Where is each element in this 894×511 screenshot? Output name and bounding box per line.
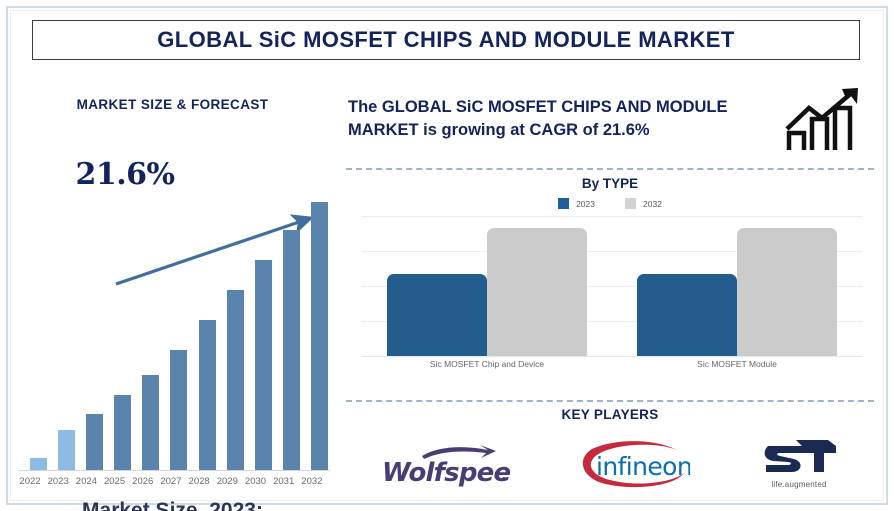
bar-2027 xyxy=(170,350,187,470)
bar-column xyxy=(193,170,221,470)
legend-item: 2023 xyxy=(558,198,595,209)
year-label: 2032 xyxy=(298,476,326,487)
st-tagline: life.augmented xyxy=(771,480,826,489)
legend-item: 2032 xyxy=(625,198,662,209)
svg-text:infineon: infineon xyxy=(596,452,690,481)
bar-2028 xyxy=(199,320,216,470)
bar-column xyxy=(52,170,80,470)
bar-2024 xyxy=(86,414,103,470)
market-size-heading: MARKET SIZE & FORECAST xyxy=(10,97,335,112)
type-category-labels: Sic MOSFET Chip and Device Sic MOSFET Mo… xyxy=(362,359,862,369)
by-type-title: By TYPE xyxy=(346,176,874,191)
market-size-bar-chart xyxy=(18,165,333,470)
type-bar-2032 xyxy=(487,228,587,356)
svg-text:Wolfspeed: Wolfspeed xyxy=(382,458,510,487)
legend-label: 2023 xyxy=(576,199,595,209)
bar-2023 xyxy=(58,430,75,470)
year-label: 2025 xyxy=(101,476,129,487)
market-size-panel: MARKET SIZE & FORECAST 21.6% xyxy=(10,80,335,495)
type-group-module xyxy=(612,216,862,356)
year-label: 2022 xyxy=(16,476,44,487)
year-label: 2023 xyxy=(44,476,72,487)
type-chart-legend: 2023 2032 xyxy=(346,198,874,209)
bar-2026 xyxy=(142,375,159,470)
type-bars xyxy=(362,216,862,356)
type-bar-2023 xyxy=(387,274,487,356)
infineon-logo: infineon xyxy=(578,437,690,489)
year-label: 2029 xyxy=(213,476,241,487)
bar-column xyxy=(250,170,278,470)
bar-column xyxy=(24,170,52,470)
cagr-headline: The GLOBAL SiC MOSFET CHIPS AND MODULE M… xyxy=(348,96,758,143)
market-size-bars xyxy=(24,170,334,470)
type-bar-2023 xyxy=(637,274,737,356)
separator-top xyxy=(346,168,874,170)
year-axis-labels: 2022 2023 2024 2025 2026 2027 2028 2029 … xyxy=(16,476,326,487)
type-category-label: Sic MOSFET Module xyxy=(612,359,862,369)
year-label: 2027 xyxy=(157,476,185,487)
market-size-value: Market Size, 2023: USD 532.1 Million xyxy=(10,498,335,511)
market-size-line-1: Market Size, 2023: xyxy=(10,498,335,511)
bar-2029 xyxy=(227,290,244,470)
type-category-label: Sic MOSFET Chip and Device xyxy=(362,359,612,369)
key-players-logos: Wolfspeed infineon life.augmented xyxy=(346,428,874,498)
year-label: 2028 xyxy=(185,476,213,487)
type-bar-2032 xyxy=(737,228,837,356)
bar-column xyxy=(165,170,193,470)
year-label: 2031 xyxy=(270,476,298,487)
key-players-title: KEY PLAYERS xyxy=(346,407,874,422)
bar-chart-growth-icon xyxy=(782,85,872,155)
year-label: 2026 xyxy=(129,476,157,487)
bar-2030 xyxy=(255,260,272,470)
bar-2031 xyxy=(283,230,300,470)
page-title: GLOBAL SiC MOSFET CHIPS AND MODULE MARKE… xyxy=(157,27,734,53)
type-chart-axis xyxy=(362,356,862,357)
x-axis-line xyxy=(18,470,330,471)
wolfspeed-logo: Wolfspeed xyxy=(380,439,510,487)
type-group-chip-and-device xyxy=(362,216,612,356)
bar-2025 xyxy=(114,395,131,470)
summary-panel: The GLOBAL SiC MOSFET CHIPS AND MODULE M… xyxy=(340,80,885,500)
separator-bottom xyxy=(346,400,874,402)
infographic-page: GLOBAL SiC MOSFET CHIPS AND MODULE MARKE… xyxy=(0,0,894,511)
bar-2022 xyxy=(30,458,47,470)
st-logo: life.augmented xyxy=(758,438,840,489)
bar-2032 xyxy=(311,202,328,470)
legend-swatch-icon xyxy=(558,198,569,209)
page-title-box: GLOBAL SiC MOSFET CHIPS AND MODULE MARKE… xyxy=(32,20,860,60)
year-label: 2030 xyxy=(242,476,270,487)
bar-column xyxy=(221,170,249,470)
bar-column xyxy=(137,170,165,470)
legend-swatch-icon xyxy=(625,198,636,209)
legend-label: 2032 xyxy=(643,199,662,209)
year-label: 2024 xyxy=(72,476,100,487)
bar-column xyxy=(80,170,108,470)
bar-column xyxy=(306,170,334,470)
bar-column xyxy=(109,170,137,470)
bar-column xyxy=(278,170,306,470)
by-type-bar-chart: Sic MOSFET Chip and Device Sic MOSFET Mo… xyxy=(362,216,862,380)
